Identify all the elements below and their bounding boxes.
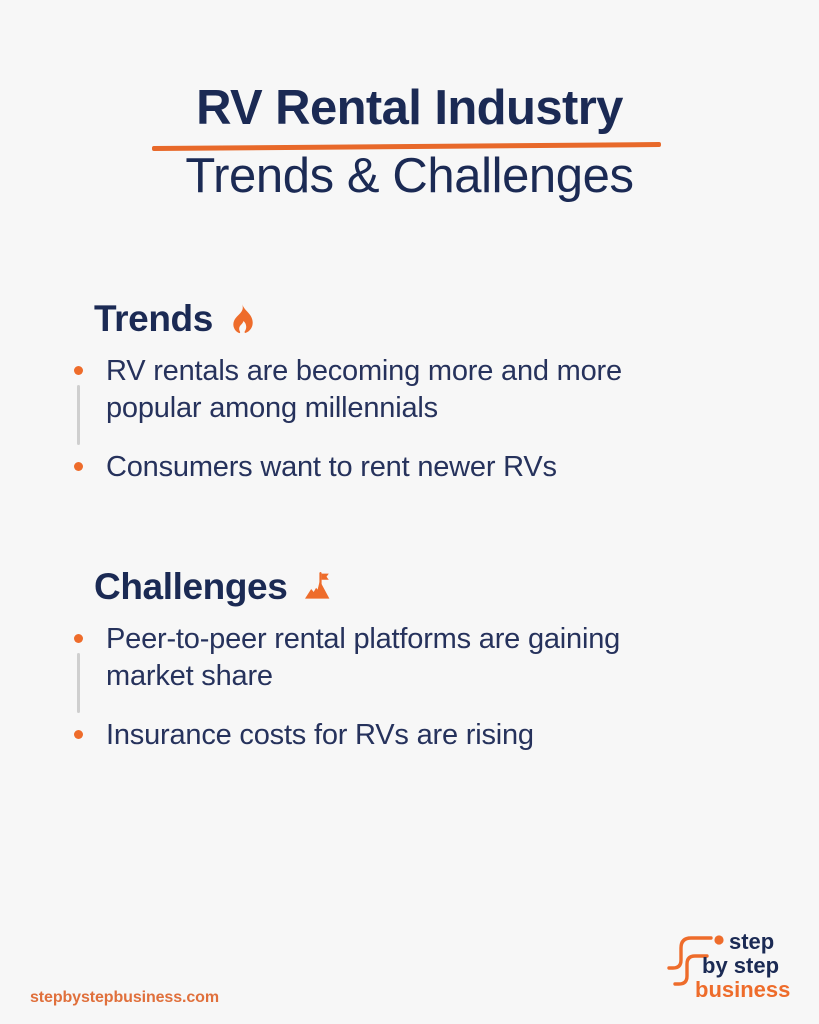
list-item: Insurance costs for RVs are rising <box>68 717 728 754</box>
list-item-label: Peer-to-peer rental platforms are gainin… <box>106 621 706 695</box>
site-url-text: stepbystepbusiness.com <box>30 989 219 1007</box>
title-line-secondary: Trends & Challenges <box>0 152 819 201</box>
list-item: Consumers want to rent newer RVs <box>68 449 728 486</box>
list-item: RV rentals are becoming more and more po… <box>68 353 728 427</box>
section-challenges: Challenges Peer-to-peer rental platforms… <box>68 568 728 753</box>
section-trends: Trends RV rentals are becoming more and … <box>68 300 728 485</box>
list-item-label: Insurance costs for RVs are rising <box>106 717 534 754</box>
trends-bullet-list: RV rentals are becoming more and more po… <box>68 353 728 485</box>
infographic-canvas: RV Rental Industry Trends & Challenges T… <box>0 0 819 1024</box>
title-line-primary: RV Rental Industry <box>196 84 623 133</box>
section-challenges-header: Challenges <box>94 568 728 607</box>
bullet-dot-icon <box>74 730 83 739</box>
logo-line-3: business <box>695 977 790 1002</box>
section-trends-title: Trends <box>94 300 213 339</box>
challenges-bullet-list: Peer-to-peer rental platforms are gainin… <box>68 621 728 753</box>
bullet-dot-icon <box>74 462 83 471</box>
section-trends-header: Trends <box>94 300 728 339</box>
page-title: RV Rental Industry Trends & Challenges <box>0 84 819 201</box>
logo-line-2: by step <box>702 953 779 978</box>
logo-line-1: step <box>729 929 774 954</box>
flame-icon <box>225 302 259 336</box>
section-challenges-title: Challenges <box>94 568 287 607</box>
mountain-flag-icon <box>299 570 333 604</box>
list-item-label: RV rentals are becoming more and more po… <box>106 353 706 427</box>
list-item: Peer-to-peer rental platforms are gainin… <box>68 621 728 695</box>
bullet-dot-icon <box>74 634 83 643</box>
brand-logo: step by step business <box>665 928 795 1006</box>
bullet-dot-icon <box>74 366 83 375</box>
list-item-label: Consumers want to rent newer RVs <box>106 449 557 486</box>
